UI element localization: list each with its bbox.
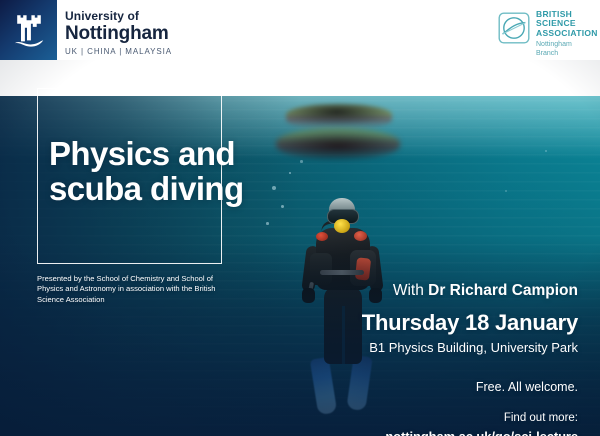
speaker-line: With Dr Richard Campion [278, 280, 578, 302]
university-wordmark: University of Nottingham UK | CHINA | MA… [65, 10, 172, 58]
with-prefix: With [393, 282, 428, 299]
british-science-association-icon [498, 12, 530, 44]
presented-by-text: Presented by the School of Chemistry and… [37, 274, 233, 305]
university-line-2: Nottingham [65, 23, 172, 44]
bsa-line-3: ASSOCIATION [536, 29, 598, 38]
speaker-name: Dr Richard Campion [428, 282, 578, 299]
page-title: Physics and scuba diving [49, 136, 249, 206]
event-url[interactable]: nottingham.ac.uk/go/sci-lecture [278, 427, 578, 436]
bsa-branch-line-2: Branch [536, 50, 598, 59]
event-venue: B1 Physics Building, University Park [278, 338, 578, 358]
university-logo-tile [0, 0, 57, 60]
find-out-more-label: Find out more: [278, 410, 578, 427]
event-price: Free. All welcome. [278, 378, 578, 396]
bsa-branch-line-1: Nottingham [536, 41, 598, 50]
event-poster: University of Nottingham UK | CHINA | MA… [0, 0, 600, 436]
nottingham-castle-icon [14, 13, 44, 47]
poster-header: University of Nottingham UK | CHINA | MA… [0, 0, 600, 60]
event-details: With Dr Richard Campion Thursday 18 Janu… [278, 280, 578, 436]
university-line-1: University of [65, 10, 172, 23]
bsa-wordmark: BRITISH SCIENCE ASSOCIATION Nottingham B… [536, 10, 598, 58]
university-campuses: UK | CHINA | MALAYSIA [65, 46, 172, 58]
bsa-logo: BRITISH SCIENCE ASSOCIATION Nottingham B… [498, 10, 594, 60]
event-date: Thursday 18 January [278, 308, 578, 338]
